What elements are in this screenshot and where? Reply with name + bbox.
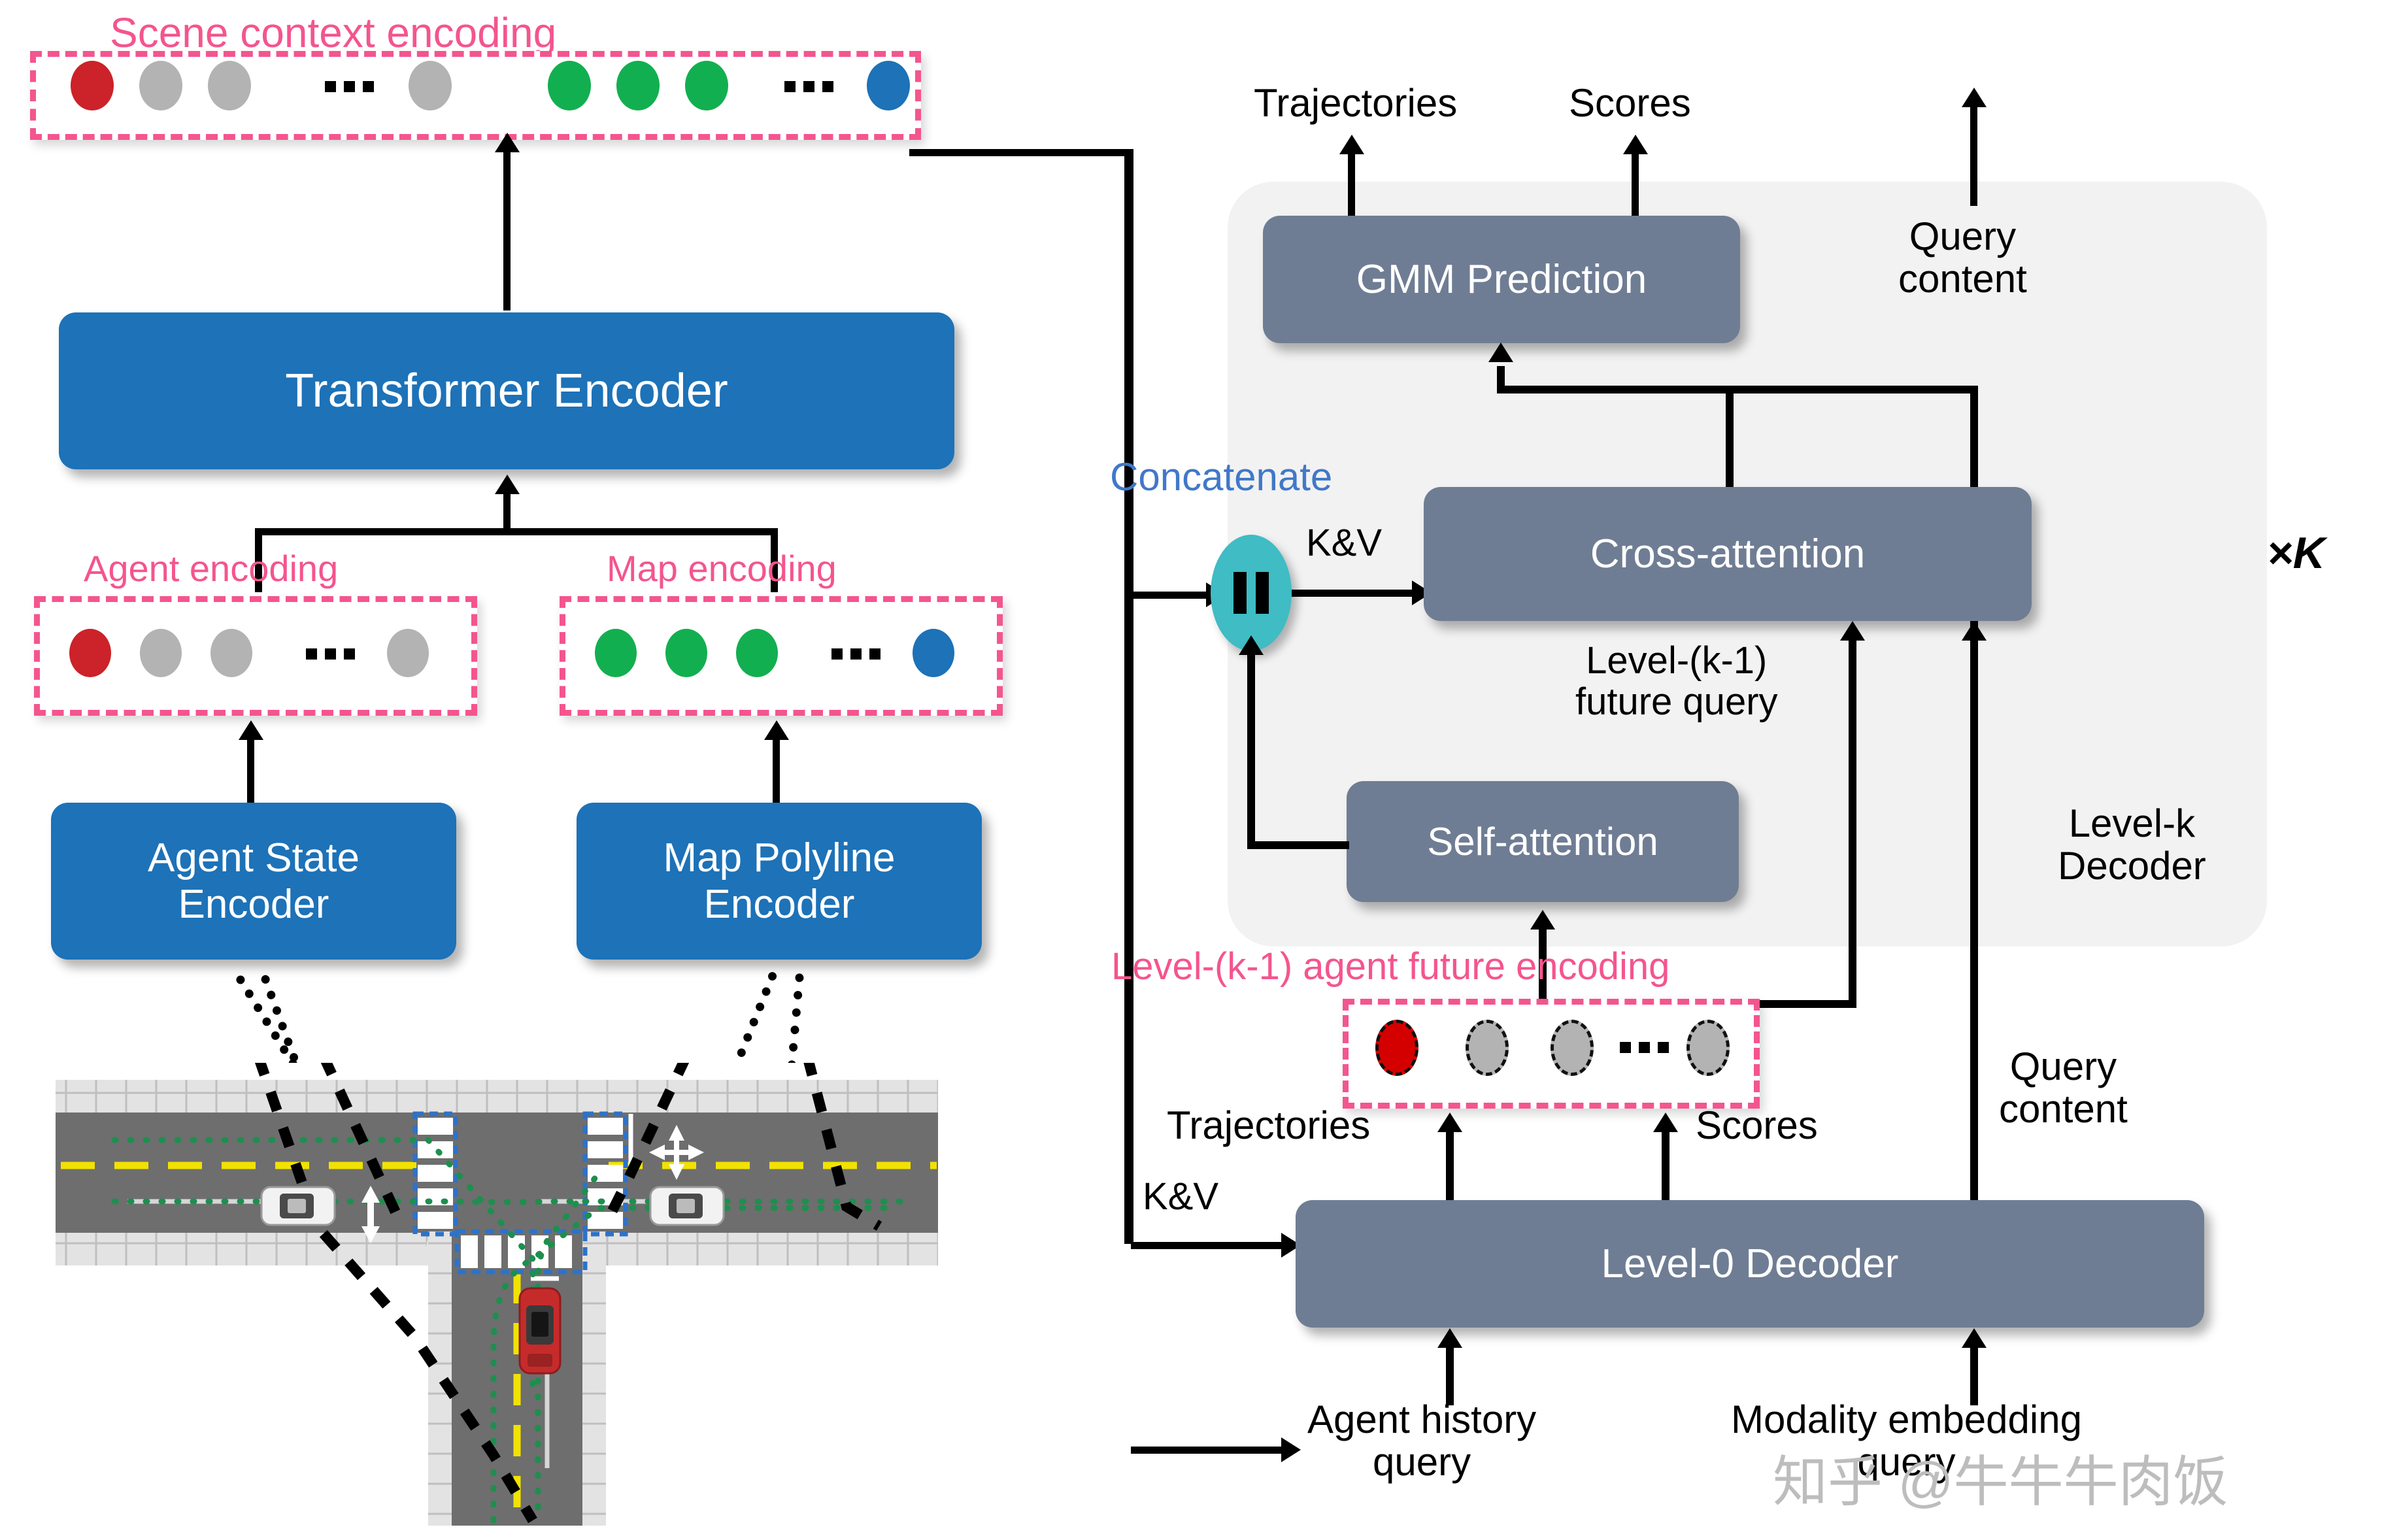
token-green [595, 629, 637, 677]
arrowhead-up [1962, 621, 1987, 641]
token-blue [913, 629, 954, 677]
query-content-top-label: Query content [1898, 216, 2027, 301]
arrow-map-encoder-to-map-encoding [773, 737, 780, 805]
level-k-minus-1-future-encoding-label: Level-(k-1) agent future encoding [1111, 946, 1669, 988]
watermark: 知乎 @牛牛牛肉饭 [1773, 1438, 2228, 1517]
concat-bar-icon [1233, 572, 1247, 614]
token-gray [139, 61, 182, 110]
agent-encoding-label: Agent encoding [84, 549, 338, 588]
token-gray [1686, 1020, 1730, 1076]
self-attention-label: Self-attention [1427, 819, 1658, 864]
query-content-corner [1726, 386, 1978, 393]
feedback-cross-to-gmm-h [1497, 386, 1734, 393]
ellipsis-icon [306, 648, 355, 660]
query-content-right-label: Query content [1999, 1046, 2128, 1131]
arrowhead-up [1437, 1113, 1462, 1132]
token-blue [867, 61, 910, 110]
level-0-decoder-label: Level-0 Decoder [1602, 1241, 1899, 1287]
arrowhead-up [764, 720, 789, 740]
token-green [685, 61, 728, 110]
kv-label-top: K&V [1306, 523, 1382, 564]
agent-state-encoder-label: Agent State Encoder [148, 835, 360, 928]
arrow-query-content-up [1970, 105, 1977, 206]
arrowhead-up [1962, 88, 1987, 107]
bus-branch-to-level0 [1131, 1242, 1285, 1249]
concatenate-label: Concatenate [1110, 456, 1332, 499]
level-k-minus-1-future-query-label: Level-(k-1) future query [1575, 641, 1778, 722]
arrow-transformer-to-scene [503, 150, 511, 310]
level-k-decoder-label: Level-k Decoder [2058, 803, 2206, 888]
arrowhead-up [1488, 343, 1513, 362]
arrow-concat-to-cross [1292, 590, 1416, 597]
kv-label-bottom: K&V [1143, 1177, 1218, 1218]
token-gray [409, 61, 452, 110]
gmm-prediction-label: GMM Prediction [1356, 256, 1647, 303]
arrowhead-up [495, 475, 520, 494]
token-gray [140, 629, 182, 677]
arrow-into-gmm [1497, 366, 1505, 392]
scores-output-label: Scores [1569, 82, 1691, 125]
trajectories-output-label: Trajectories [1254, 82, 1457, 125]
token-green [548, 61, 591, 110]
arrowhead-up [1239, 635, 1264, 655]
arrow-agent-history-to-level0 [1446, 1347, 1454, 1405]
arrow-gmm-to-trajectories [1348, 152, 1355, 217]
token-gray [387, 629, 429, 677]
token-gray [1551, 1020, 1594, 1076]
arrowhead-up [1339, 135, 1364, 154]
concatenate-node[interactable] [1211, 535, 1292, 651]
concat-bar-icon [1256, 572, 1269, 614]
token-green [616, 61, 660, 110]
arrow-bracket-to-transformer [503, 492, 511, 529]
cross-attention-box[interactable]: Cross-attention [1424, 487, 2032, 621]
token-green [736, 629, 778, 677]
token-green [665, 629, 707, 677]
token-red [1375, 1020, 1418, 1076]
transformer-encoder-label: Transformer Encoder [285, 364, 728, 418]
cross-attention-label: Cross-attention [1590, 531, 1865, 577]
arrow-gmm-to-scores [1632, 152, 1639, 217]
token-red [71, 61, 114, 110]
ellipsis-icon [1620, 1042, 1669, 1053]
ellipsis-icon [831, 648, 881, 660]
bus-branch-to-agent-history [1131, 1447, 1285, 1454]
token-gray [1466, 1020, 1509, 1076]
trajectories-mid-label: Trajectories [1167, 1105, 1370, 1147]
traffic-scene-image [36, 1063, 958, 1533]
repeat-k-label: ×K [2267, 529, 2325, 577]
agent-history-query-label: Agent history query [1307, 1399, 1536, 1484]
bus-from-scene-context [909, 149, 1132, 156]
arrow-agent-encoder-to-agent-encoding [247, 737, 254, 805]
figure-canvas: Scene context encoding Transformer Encod… [0, 0, 2399, 1540]
token-gray [208, 61, 251, 110]
ellipsis-icon [325, 81, 374, 92]
arrow-modality-to-level0 [1970, 1347, 1978, 1405]
map-polyline-encoder-label: Map Polyline Encoder [663, 835, 896, 928]
map-encoding-label: Map encoding [607, 549, 837, 588]
scores-mid-label: Scores [1696, 1105, 1818, 1147]
arrowhead-up [239, 720, 263, 740]
agent-state-encoder-box[interactable]: Agent State Encoder [51, 803, 456, 960]
arrowhead-up [1530, 910, 1555, 929]
self-to-concat-h [1247, 841, 1349, 849]
token-gray [210, 629, 252, 677]
arrowhead-right [1281, 1437, 1301, 1462]
self-to-concat-v [1247, 655, 1255, 845]
gmm-prediction-box[interactable]: GMM Prediction [1263, 216, 1740, 343]
arrowhead-up [1962, 1328, 1987, 1348]
map-polyline-encoder-box[interactable]: Map Polyline Encoder [577, 803, 982, 960]
bus-branch-to-concat [1131, 592, 1209, 599]
arrowhead-up [495, 133, 520, 152]
transformer-encoder-box[interactable]: Transformer Encoder [59, 312, 954, 469]
bracket-horizontal [255, 528, 778, 535]
bus-vertical-main [1124, 149, 1133, 1244]
arrowhead-up [1623, 135, 1648, 154]
scene-context-encoding-label: Scene context encoding [110, 10, 556, 56]
ellipsis-icon [784, 81, 833, 92]
arrow-future-enc-to-cross [1849, 641, 1856, 1007]
arrowhead-up [1653, 1113, 1678, 1132]
arrowhead-up [1437, 1328, 1462, 1348]
self-attention-box[interactable]: Self-attention [1347, 781, 1739, 902]
arrowhead-up [1840, 621, 1865, 641]
token-red [69, 629, 111, 677]
level-0-decoder-box[interactable]: Level-0 Decoder [1296, 1200, 2204, 1328]
